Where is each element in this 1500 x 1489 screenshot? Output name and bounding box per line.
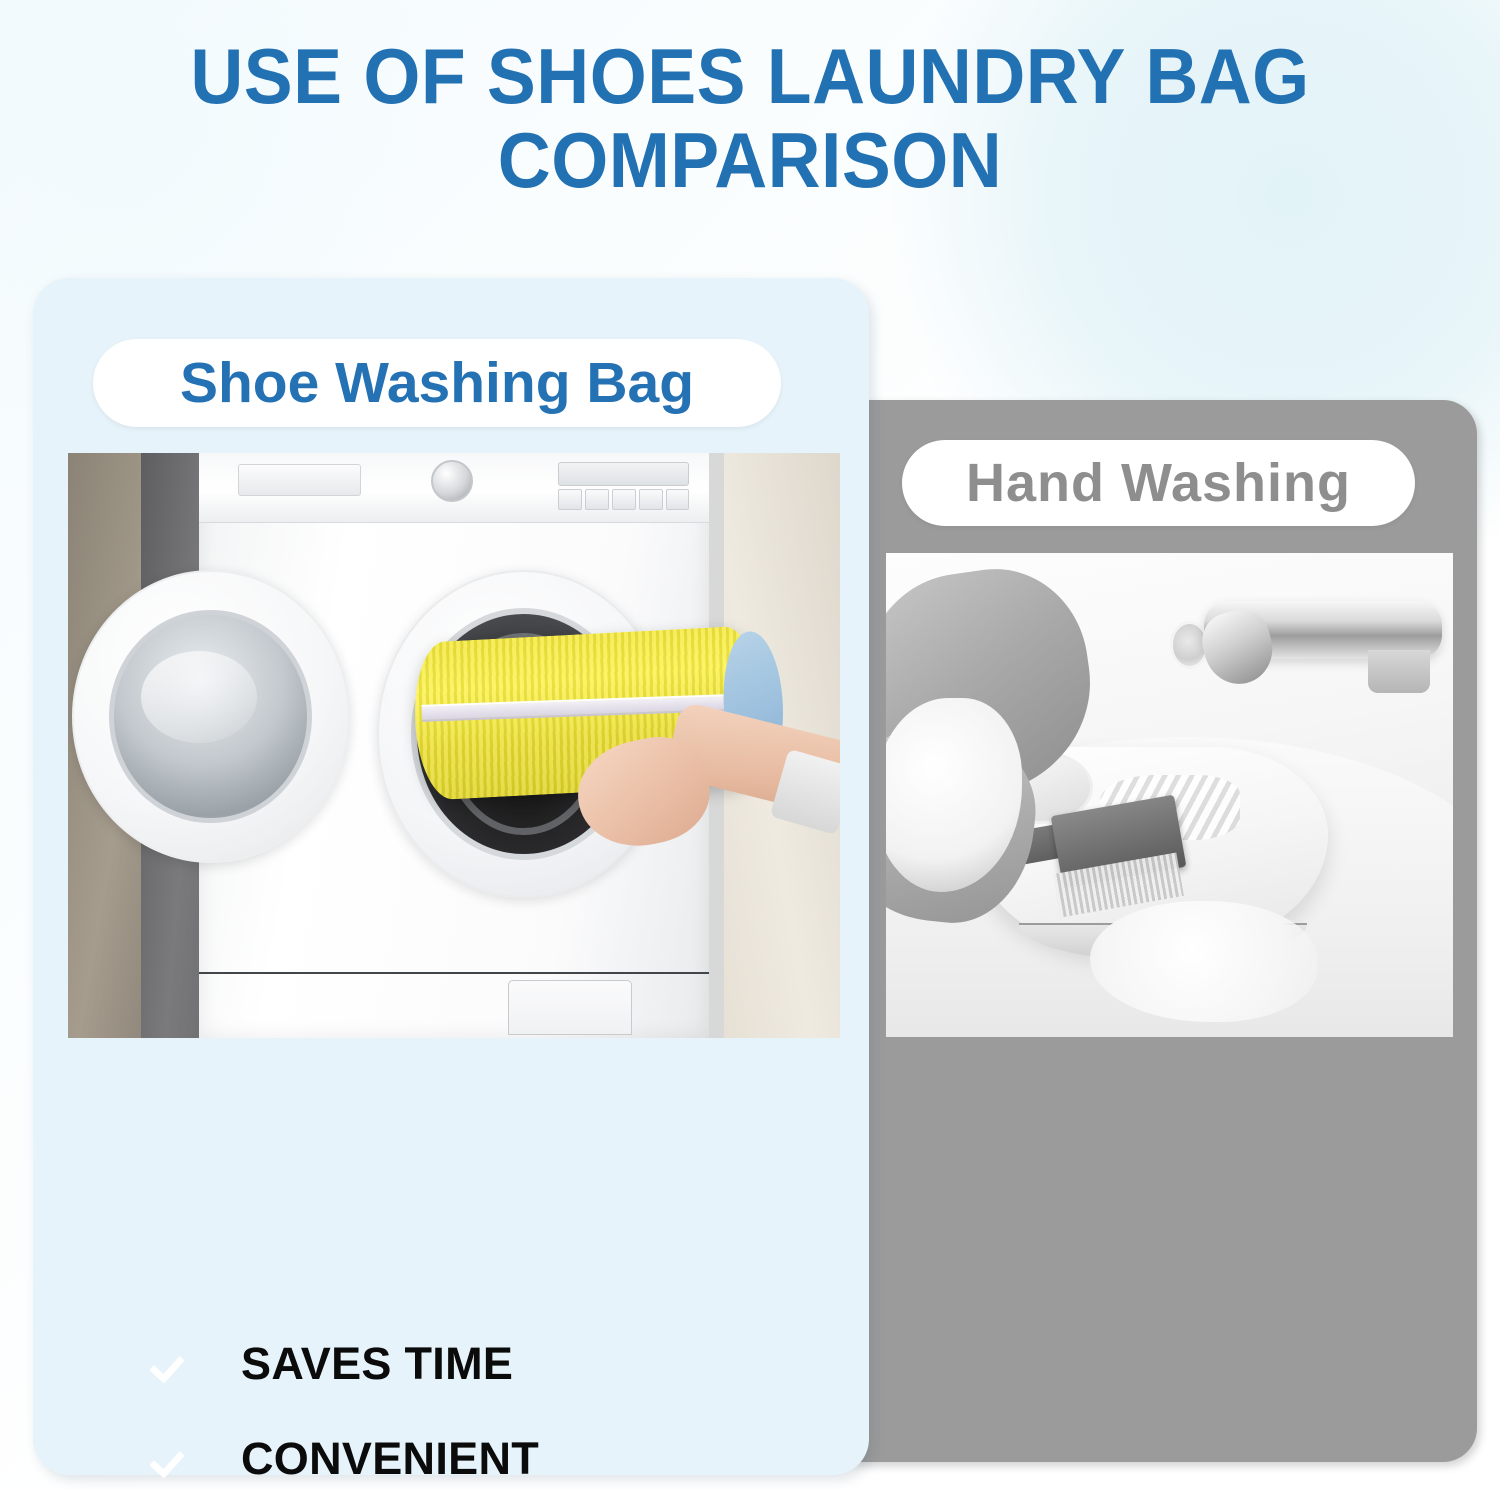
feature-list-shoe-washing-bag: SAVES TIME CONVENIENT WASHES CLEANER EFF… [145,1316,855,1489]
panel-heading-shoe-washing-bag-label: Shoe Washing Bag [180,350,694,416]
page-title-line-1: USE OF SHOES LAUNDRY BAG [190,32,1309,120]
feature-label: SAVES TIME [241,1337,513,1390]
page-title-line-2: COMPARISON [45,118,1455,202]
feature-label: CONVENIENT [241,1432,539,1485]
page-title: USE OF SHOES LAUNDRY BAG COMPARISON [45,34,1455,202]
machine-base-seam [199,972,709,974]
list-item: SAVES TIME [145,1316,855,1411]
faucet-base [1368,650,1430,694]
panel-heading-hand-washing-label: Hand Washing [966,452,1351,514]
machine-display [558,462,689,487]
panel-heading-hand-washing: Hand Washing [902,440,1415,526]
machine-buttons [558,489,689,510]
dryer-door [72,570,350,863]
check-circle-icon [145,1436,191,1482]
list-item: CONVENIENT [145,1411,855,1489]
check-circle-icon [145,1341,191,1387]
program-dial-icon [431,460,473,502]
comparison-panel-hand-washing: Hand Washing SAVES TIME CONVENIENT [852,400,1477,1462]
detergent-drawer [238,464,362,496]
dryer-door-glass [109,610,312,823]
comparison-panel-shoe-washing-bag: Shoe Washing Bag [33,278,869,1475]
photo-hand-washing [886,553,1453,1037]
filter-access-hatch [508,980,632,1036]
photo-shoe-washing-bag [68,453,840,1038]
panel-heading-shoe-washing-bag: Shoe Washing Bag [93,339,781,427]
